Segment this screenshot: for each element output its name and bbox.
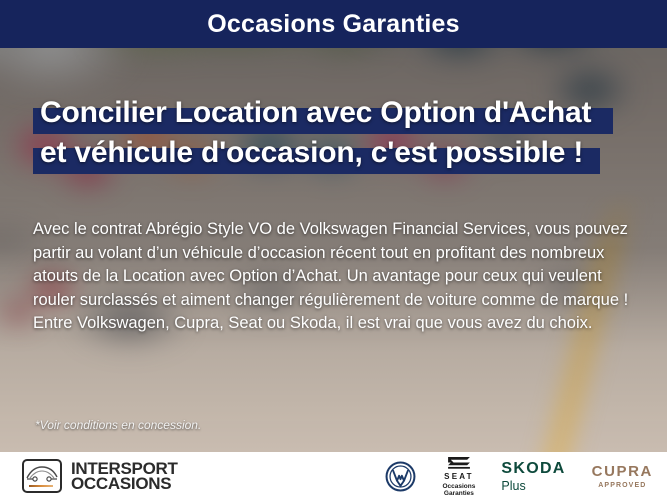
body-paragraph: Avec le contrat Abrégio Style VO de Volk… bbox=[33, 218, 633, 336]
skoda-wordmark: SKODA bbox=[501, 460, 565, 478]
cupra-subtitle: APPROVED bbox=[598, 482, 646, 489]
brand-logo-group: SEAT Occasions Garanties SKODA Plus CUPR… bbox=[385, 455, 653, 498]
skoda-subtitle: Plus bbox=[501, 479, 525, 493]
header-bar: Occasions Garanties bbox=[0, 0, 667, 48]
dealer-name-line-2: OCCASIONS bbox=[71, 476, 178, 492]
brand-logo-volkswagen[interactable] bbox=[385, 461, 416, 492]
legal-footnote: *Voir conditions en concession. bbox=[35, 418, 201, 432]
dealer-logo[interactable]: INTERSPORT OCCASIONS bbox=[22, 459, 178, 493]
promo-banner: Occasions Garanties Concilier Location a… bbox=[0, 0, 667, 500]
brand-logo-seat[interactable]: SEAT Occasions Garanties bbox=[442, 455, 475, 498]
seat-subtitle: Occasions Garanties bbox=[442, 483, 475, 498]
headline-text-1: Concilier Location avec Option d'Achat bbox=[40, 96, 591, 130]
seat-wordmark: SEAT bbox=[444, 472, 474, 481]
cupra-wordmark: CUPRA bbox=[592, 463, 653, 480]
seat-icon bbox=[445, 455, 473, 470]
page-title: Occasions Garanties bbox=[207, 10, 460, 39]
seat-subtitle-line-1: Occasions bbox=[442, 483, 475, 491]
brand-logo-skoda[interactable]: SKODA Plus bbox=[501, 460, 565, 493]
car-silhouette-icon bbox=[22, 459, 62, 493]
volkswagen-icon bbox=[385, 461, 416, 492]
seat-subtitle-line-2: Garanties bbox=[442, 490, 475, 498]
brand-logo-cupra[interactable]: CUPRA APPROVED bbox=[592, 463, 653, 489]
footer-bar: INTERSPORT OCCASIONS SEAT Oc bbox=[0, 452, 667, 500]
logo-accent-bar bbox=[29, 485, 53, 487]
dealer-wordmark: INTERSPORT OCCASIONS bbox=[71, 461, 178, 492]
headline-text-2: et véhicule d'occasion, c'est possible ! bbox=[40, 136, 583, 170]
